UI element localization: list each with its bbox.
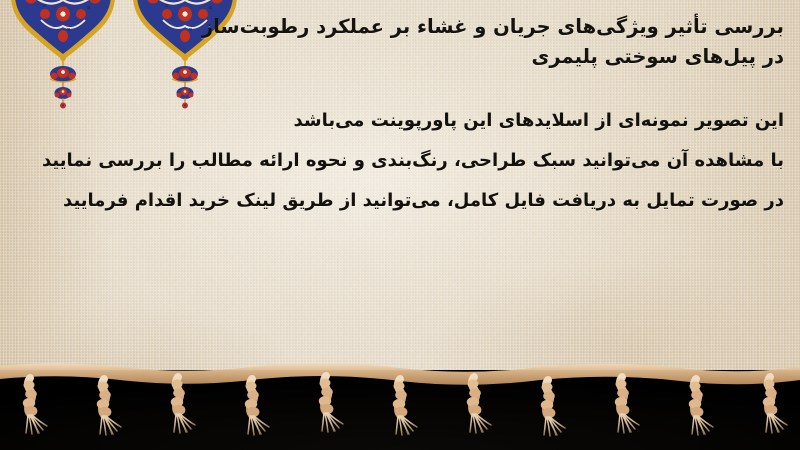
slide-canvas: بررسی تأثیر ویژگی‌های جریان و غشاء بر عم… — [0, 0, 800, 450]
carpet-fringe-tassels-icon — [0, 358, 800, 450]
body-line-2: با مشاهده آن می‌توانید سبک طراحی، رنگ‌بن… — [84, 152, 784, 170]
bottom-fringe-group — [0, 358, 800, 450]
slide-title: بررسی تأثیر ویژگی‌های جریان و غشاء بر عم… — [184, 12, 784, 71]
body-line-3: در صورت تمایل به دریافت فایل کامل، می‌تو… — [84, 192, 784, 210]
body-line-1: این تصویر نمونه‌ای از اسلایدهای این پاور… — [84, 112, 784, 130]
slide-body: این تصویر نمونه‌ای از اسلایدهای این پاور… — [84, 112, 784, 210]
fringe-tassel-row — [23, 376, 787, 436]
